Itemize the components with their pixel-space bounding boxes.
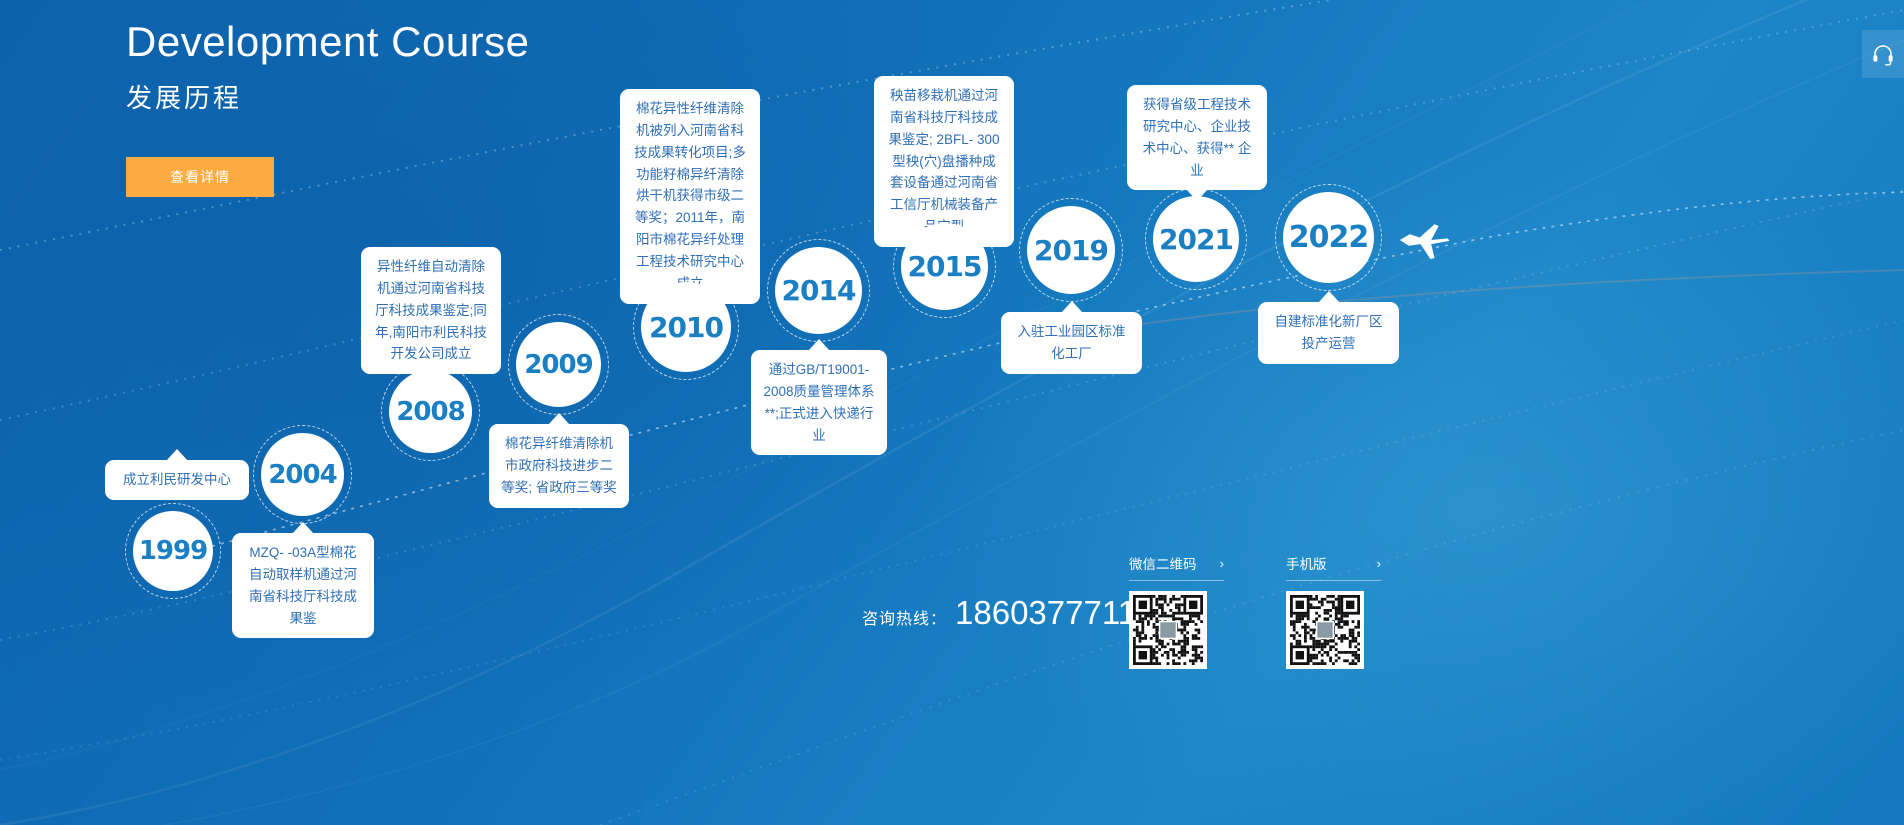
headset-icon: [1871, 42, 1895, 66]
timeline-card[interactable]: MZQ- -03A型棉花自动取样机通过河南省科技厅科技成果鉴: [232, 533, 374, 638]
timeline-card[interactable]: 自建标准化新厂区投产运营: [1258, 302, 1399, 364]
chevron-right-icon: ›: [1220, 556, 1224, 571]
timeline-card[interactable]: 异性纤维自动清除机通过河南省科技厅科技成果鉴定;同年,南阳市利民科技开发公司成立: [361, 247, 501, 374]
timeline-year-node[interactable]: 2022: [1283, 192, 1374, 283]
timeline-year-label: 2019: [1034, 234, 1108, 267]
qr-code-image: [1129, 591, 1207, 669]
page-title-en: Development Course: [126, 18, 530, 66]
timeline-card-text: 棉花异性纤维清除机被列入河南省科技成果转化项目;多功能籽棉异纤清除烘干机获得市级…: [634, 101, 746, 291]
qr-label: 微信二维码: [1129, 553, 1197, 573]
timeline-year-label: 2014: [782, 274, 856, 307]
timeline-card[interactable]: 成立利民研发中心: [105, 460, 249, 500]
timeline-card-text: 自建标准化新厂区投产运营: [1275, 314, 1383, 351]
timeline-card-text: 成立利民研发中心: [123, 472, 231, 487]
timeline-card-text: 获得省级工程技术研究中心、企业技术中心、获得** 企业: [1143, 97, 1252, 178]
timeline-card-text: MZQ- -03A型棉花自动取样机通过河南省科技厅科技成果鉴: [249, 545, 357, 626]
qr-code-image: [1286, 591, 1364, 669]
airplane-icon: [1398, 222, 1454, 262]
timeline-year-label: 2009: [524, 350, 592, 380]
customer-service-button[interactable]: [1862, 30, 1904, 78]
timeline-year-node[interactable]: 1999: [133, 511, 213, 591]
timeline-year-node[interactable]: 2021: [1153, 196, 1239, 282]
timeline-year-node[interactable]: 2019: [1027, 206, 1115, 294]
timeline-year-node[interactable]: 2004: [261, 433, 344, 516]
timeline-card[interactable]: 棉花异纤维清除机市政府科技进步二等奖; 省政府三等奖: [489, 424, 629, 508]
timeline-card-text: 异性纤维自动清除机通过河南省科技厅科技成果鉴定;同年,南阳市利民科技开发公司成立: [375, 259, 487, 361]
timeline-year-node[interactable]: 2009: [516, 322, 601, 407]
timeline-year-node[interactable]: 2015: [901, 223, 988, 310]
timeline-year-label: 2004: [268, 460, 336, 490]
qr-header[interactable]: 手机版›: [1286, 553, 1381, 581]
timeline-year-label: 2010: [649, 311, 723, 344]
timeline-card-text: 入驻工业园区标准化工厂: [1018, 324, 1126, 361]
timeline-card[interactable]: 获得省级工程技术研究中心、企业技术中心、获得** 企业: [1127, 85, 1267, 190]
timeline-card[interactable]: 棉花异性纤维清除机被列入河南省科技成果转化项目;多功能籽棉异纤清除烘干机获得市级…: [620, 89, 760, 304]
hotline-label: 咨询热线：: [862, 605, 947, 629]
timeline-year-label: 2022: [1289, 220, 1369, 255]
development-course-banner: Development Course 发展历程 查看详情 成立利民研发中心MZQ…: [0, 0, 1904, 825]
card-pointer: [1318, 291, 1340, 303]
qr-header[interactable]: 微信二维码›: [1129, 553, 1224, 581]
timeline-card-text: 秧苗移栽机通过河南省科技厅科技成果鉴定; 2BFL- 300型秧(穴)盘播种成套…: [888, 88, 999, 234]
timeline-year-node[interactable]: 2014: [775, 247, 862, 334]
hotline-number: 18603777118: [955, 594, 1154, 632]
timeline-year-label: 1999: [139, 536, 207, 566]
card-pointer: [166, 449, 188, 461]
timeline-year-label: 2015: [908, 250, 982, 283]
timeline-card[interactable]: 通过GB/T19001-2008质量管理体系**;正式进入快递行业: [751, 350, 887, 455]
timeline-card-text: 通过GB/T19001-2008质量管理体系**;正式进入快递行业: [763, 362, 874, 443]
timeline-year-node[interactable]: 2010: [641, 282, 731, 372]
qr-label: 手机版: [1286, 553, 1327, 573]
timeline-year-label: 2008: [396, 397, 464, 427]
timeline-card-text: 棉花异纤维清除机市政府科技进步二等奖; 省政府三等奖: [501, 436, 617, 495]
page-title-cn: 发展历程: [126, 78, 530, 115]
timeline-card[interactable]: 入驻工业园区标准化工厂: [1001, 312, 1142, 374]
hotline: 咨询热线： 18603777118: [862, 594, 1154, 632]
qr-block[interactable]: 手机版›: [1286, 553, 1381, 669]
chevron-right-icon: ›: [1377, 556, 1381, 571]
card-pointer: [1061, 301, 1083, 313]
timeline-year-label: 2021: [1159, 223, 1233, 256]
qr-block[interactable]: 微信二维码›: [1129, 553, 1224, 669]
page-header: Development Course 发展历程: [126, 18, 530, 115]
timeline-year-node[interactable]: 2008: [389, 370, 472, 453]
view-detail-button[interactable]: 查看详情: [126, 157, 274, 197]
